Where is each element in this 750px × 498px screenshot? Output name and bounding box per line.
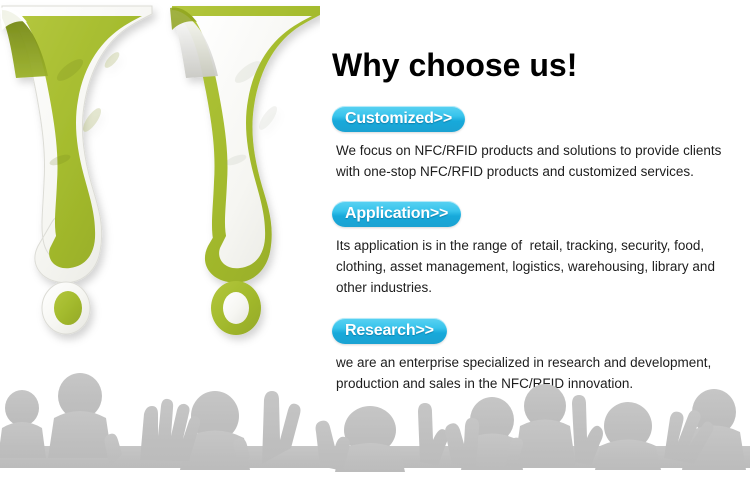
page-title: Why choose us! [332,47,744,84]
section-customized-body: We focus on NFC/RFID products and soluti… [336,140,744,182]
why-choose-us-banner: Why choose us! Customized>> We focus on … [0,0,750,498]
question-marks-illustration [0,0,320,360]
section-application-body: Its application is in the range of retai… [336,235,744,298]
section-customized: Customized>> We focus on NFC/RFID produc… [332,106,744,182]
content-column: Why choose us! Customized>> We focus on … [332,26,744,396]
badge-application[interactable]: Application>> [332,201,461,227]
question-mark-left [0,6,152,334]
crowd-shapes [0,373,750,472]
section-application: Application>> Its application is in the … [332,201,744,298]
badge-customized[interactable]: Customized>> [332,106,465,132]
badge-research[interactable]: Research>> [332,318,447,344]
crowd-silhouette [0,368,750,498]
question-mark-right [170,6,320,335]
